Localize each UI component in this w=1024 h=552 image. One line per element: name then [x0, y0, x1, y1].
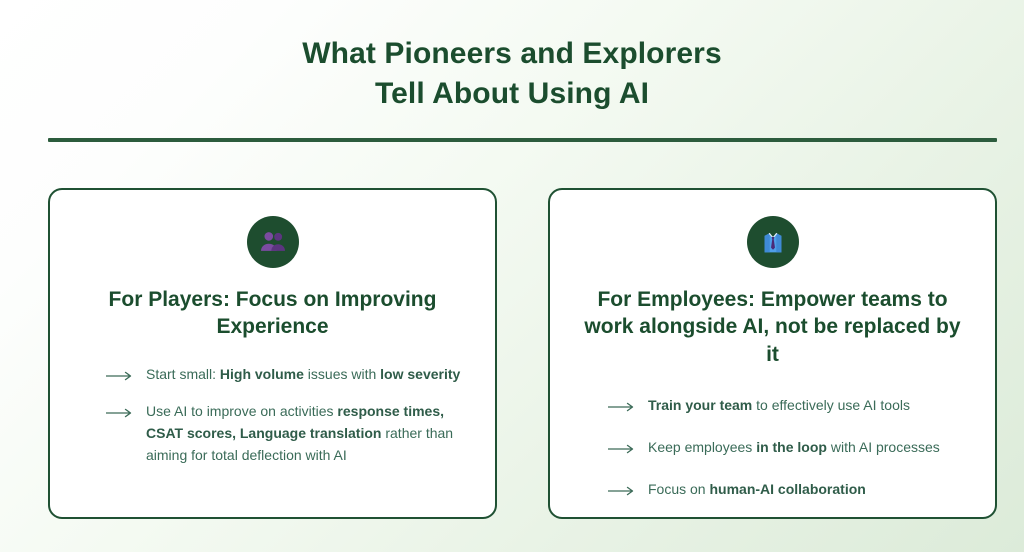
cards-container: For Players: Focus on Improving Experien… — [48, 188, 997, 519]
card-bullet-list: Start small: High volume issues with low… — [76, 363, 469, 466]
list-item: Use AI to improve on activities response… — [106, 400, 465, 466]
card-for-players: For Players: Focus on Improving Experien… — [48, 188, 497, 519]
list-item: Focus on human-AI collaboration — [608, 478, 965, 500]
slide-header: What Pioneers and Explorers Tell About U… — [0, 0, 1024, 113]
card-for-employees: For Employees: Empower teams to work alo… — [548, 188, 997, 519]
list-item: Keep employees in the loop with AI proce… — [608, 436, 965, 458]
page-title-line-2: Tell About Using AI — [0, 74, 1024, 114]
list-item: Train your team to effectively use AI to… — [608, 394, 965, 416]
card-title: For Employees: Empower teams to work alo… — [580, 286, 965, 368]
slide: What Pioneers and Explorers Tell About U… — [0, 0, 1024, 552]
page-title-line-1: What Pioneers and Explorers — [0, 34, 1024, 74]
long-right-arrow-icon — [106, 371, 133, 381]
long-right-arrow-icon — [106, 408, 133, 418]
bullet-text: Keep employees in the loop with AI proce… — [648, 436, 940, 458]
list-item: Start small: High volume issues with low… — [106, 363, 465, 385]
page-title: What Pioneers and Explorers Tell About U… — [0, 34, 1024, 113]
long-right-arrow-icon — [608, 486, 635, 496]
bullet-text: Start small: High volume issues with low… — [146, 363, 460, 385]
long-right-arrow-icon — [608, 402, 635, 412]
bullet-text: Focus on human-AI collaboration — [648, 478, 866, 500]
card-title: For Players: Focus on Improving Experien… — [80, 286, 465, 341]
necktie-icon — [747, 216, 799, 268]
bullet-text: Use AI to improve on activities response… — [146, 400, 465, 466]
header-divider — [48, 138, 997, 142]
people-icon — [247, 216, 299, 268]
bullet-text: Train your team to effectively use AI to… — [648, 394, 910, 416]
long-right-arrow-icon — [608, 444, 635, 454]
card-bullet-list: Train your team to effectively use AI to… — [576, 394, 969, 520]
